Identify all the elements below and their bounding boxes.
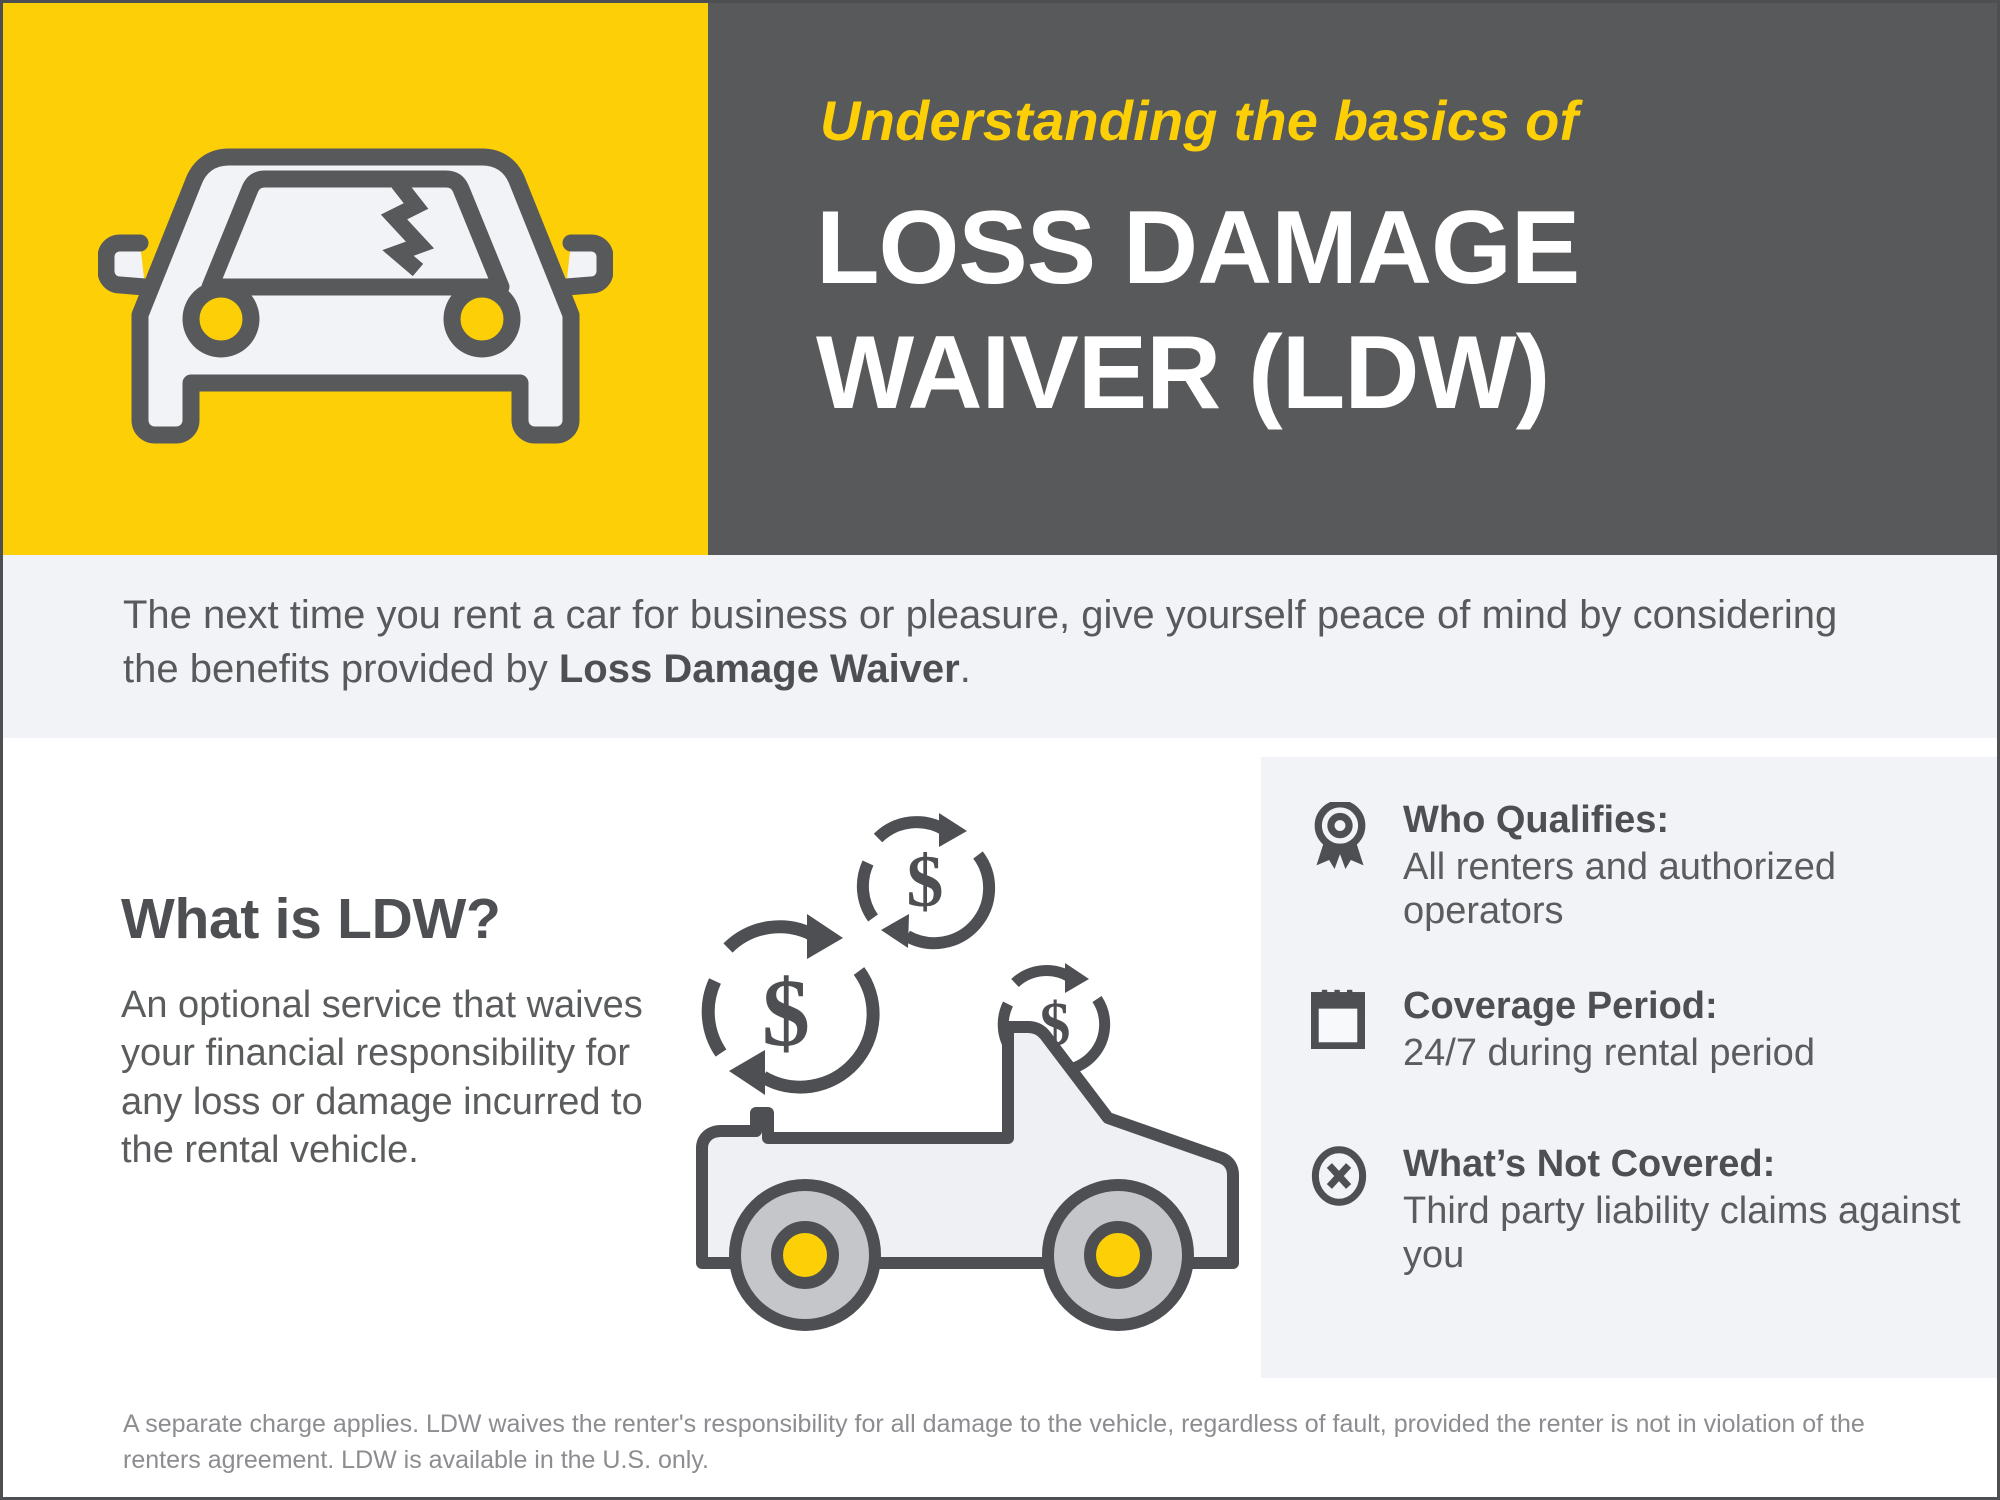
intro-text-after: .: [960, 647, 971, 691]
dollar-refresh-arrow-right-a: [1065, 963, 1089, 993]
footer: A separate charge applies. LDW waives th…: [3, 1378, 2000, 1500]
footer-disclaimer: A separate charge applies. LDW waives th…: [123, 1406, 1903, 1478]
intro-emphasis: Loss Damage Waiver: [559, 647, 960, 691]
dollar-refresh-arrow-top-b: [881, 914, 909, 948]
benefit-value: 24/7 during rental period: [1403, 1031, 1815, 1075]
benefit-item-coverage-period: Coverage Period: 24/7 during rental peri…: [1311, 984, 1815, 1075]
page-title-line2: WAIVER (LDW): [816, 321, 1549, 425]
intro-text: The next time you rent a car for busines…: [123, 588, 1883, 696]
header-icon-block: [3, 3, 708, 555]
header-title-block: Understanding the basics of LOSS DAMAGE …: [708, 3, 2000, 555]
benefit-value: All renters and authorized operators: [1403, 845, 2000, 933]
benefit-value: Third party liability claims against you: [1403, 1189, 2000, 1277]
what-is-ldw-heading: What is LDW?: [121, 886, 501, 952]
dollar-refresh-arrow-left-a: [807, 914, 843, 959]
damaged-car-front-icon: [98, 65, 613, 495]
what-is-ldw-body: An optional service that waives your fin…: [121, 981, 666, 1174]
intro-text-before: The next time you rent a car for busines…: [123, 593, 1837, 691]
benefit-label: Who Qualifies:: [1403, 798, 2000, 842]
benefit-item-who-qualifies: Who Qualifies: All renters and authorize…: [1311, 798, 2000, 933]
benefit-label: What’s Not Covered:: [1403, 1142, 2000, 1186]
page-title-line1: LOSS DAMAGE: [816, 196, 1579, 300]
calendar-icon: [1311, 984, 1375, 1054]
dollar-refresh-arrow-left-b: [729, 1050, 765, 1095]
infographic-page: Understanding the basics of LOSS DAMAGE …: [0, 0, 2000, 1500]
dollar-symbol-top: $: [907, 841, 944, 923]
money-circulation-and-pickup-truck-illustration: $ $ $: [693, 783, 1253, 1363]
circle-x-icon: [1311, 1142, 1375, 1211]
pickup-truck-side-icon: [702, 1027, 1233, 1325]
dollar-symbol-left: $: [762, 959, 810, 1066]
benefit-text-not-covered: What’s Not Covered: Third party liabilit…: [1403, 1142, 2000, 1277]
benefits-panel: Who Qualifies: All renters and authorize…: [1261, 757, 2000, 1378]
award-ribbon-icon: [1311, 798, 1375, 874]
truck-front-hub: [1090, 1227, 1146, 1283]
benefit-label: Coverage Period:: [1403, 984, 1815, 1028]
benefit-item-not-covered: What’s Not Covered: Third party liabilit…: [1311, 1142, 2000, 1277]
intro-band: The next time you rent a car for busines…: [3, 555, 2000, 738]
header-eyebrow: Understanding the basics of: [820, 88, 1578, 153]
benefit-text-who-qualifies: Who Qualifies: All renters and authorize…: [1403, 798, 2000, 933]
main-content: What is LDW? An optional service that wa…: [3, 738, 2000, 1378]
benefit-text-coverage-period: Coverage Period: 24/7 during rental peri…: [1403, 984, 1815, 1075]
truck-rear-hub: [777, 1227, 833, 1283]
header: Understanding the basics of LOSS DAMAGE …: [3, 3, 2000, 555]
